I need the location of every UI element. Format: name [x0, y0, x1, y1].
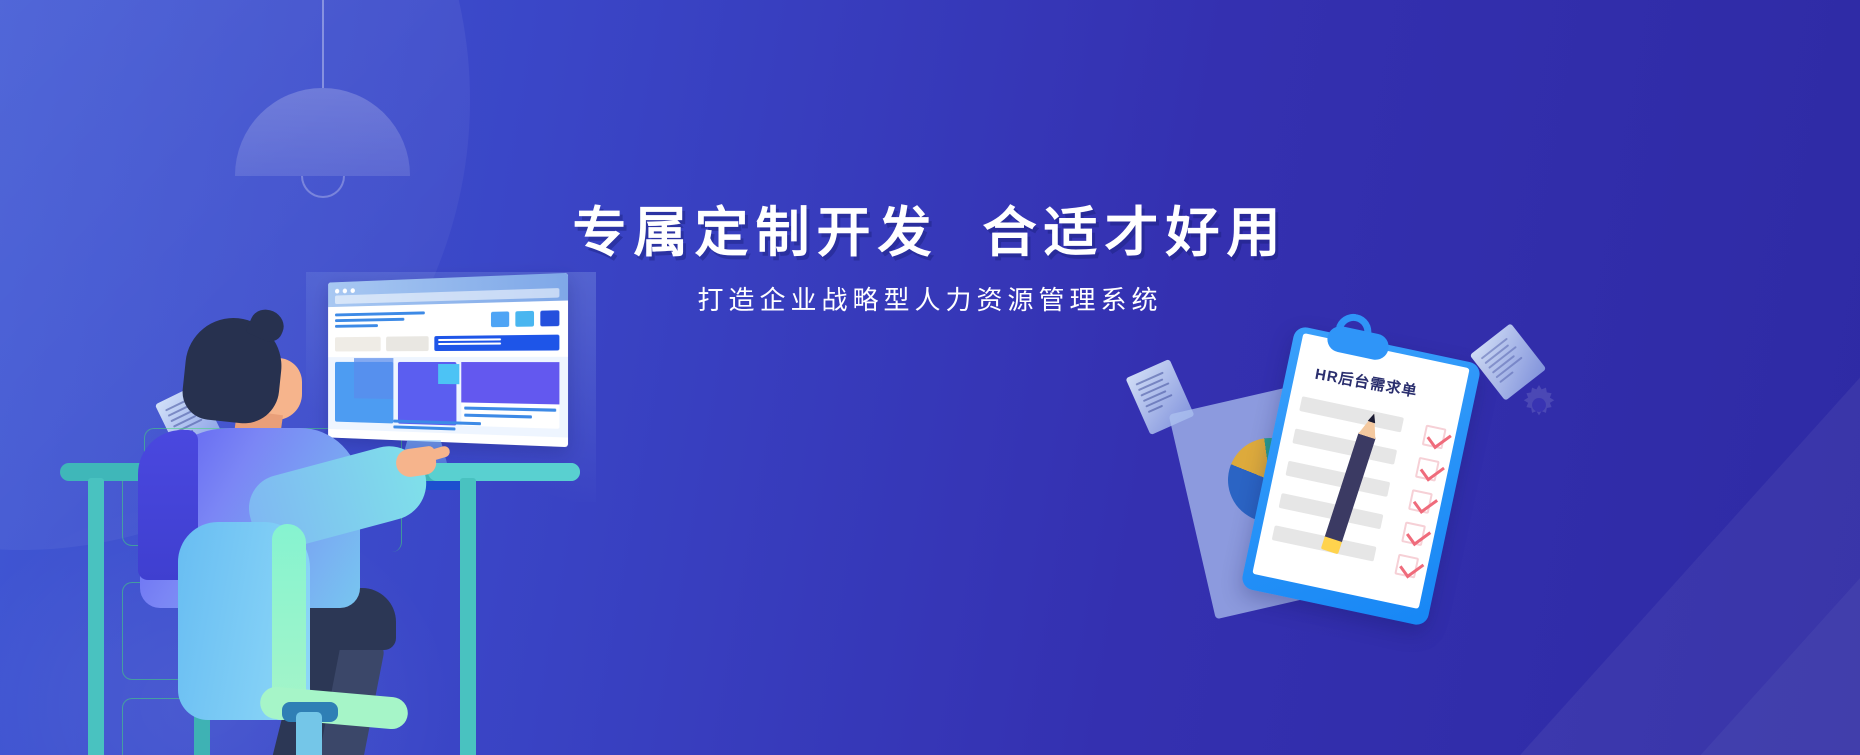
monitor-card-3 [461, 362, 559, 429]
monitor-footer-lines [393, 420, 481, 435]
hero-banner: 专属定制开发 合适才好用 打造企业战略型人力资源管理系统 [0, 0, 1860, 755]
checkbox-checked-icon [1408, 489, 1433, 514]
desk-leg-right [460, 478, 476, 755]
monitor-chip-row [328, 334, 568, 357]
lamp-bulb [301, 176, 345, 198]
hero-headline: 专属定制开发 合适才好用 [0, 202, 1860, 264]
desk-leg-left [88, 478, 104, 755]
monitor-chip-2 [386, 336, 429, 351]
monitor-card-3-header [461, 362, 559, 404]
illustration-person-at-desk [60, 300, 640, 755]
illustration-hr-clipboard: HR后台需求单 [1190, 330, 1530, 640]
monitor-card-1 [335, 362, 393, 424]
checkbox-checked-icon [1422, 425, 1447, 450]
office-chair-post [296, 712, 322, 755]
lamp-cord [322, 0, 324, 88]
monitor-card-2 [398, 362, 456, 426]
checkbox-checked-icon [1401, 521, 1426, 546]
checkbox-checked-icon [1415, 457, 1440, 482]
hero-subheadline: 打造企业战略型人力资源管理系统 [0, 284, 1860, 318]
monitor-chip-3 [434, 335, 559, 351]
desk-surface-highlight [428, 463, 580, 481]
pendant-lamp-icon [235, 0, 410, 198]
clipboard-title: HR后台需求单 [1314, 363, 1448, 407]
checkbox-checked-icon [1394, 554, 1419, 579]
monitor-chip-1 [335, 337, 381, 352]
lamp-shade [235, 88, 410, 176]
hero-text-block: 专属定制开发 合适才好用 打造企业战略型人力资源管理系统 [0, 202, 1860, 318]
